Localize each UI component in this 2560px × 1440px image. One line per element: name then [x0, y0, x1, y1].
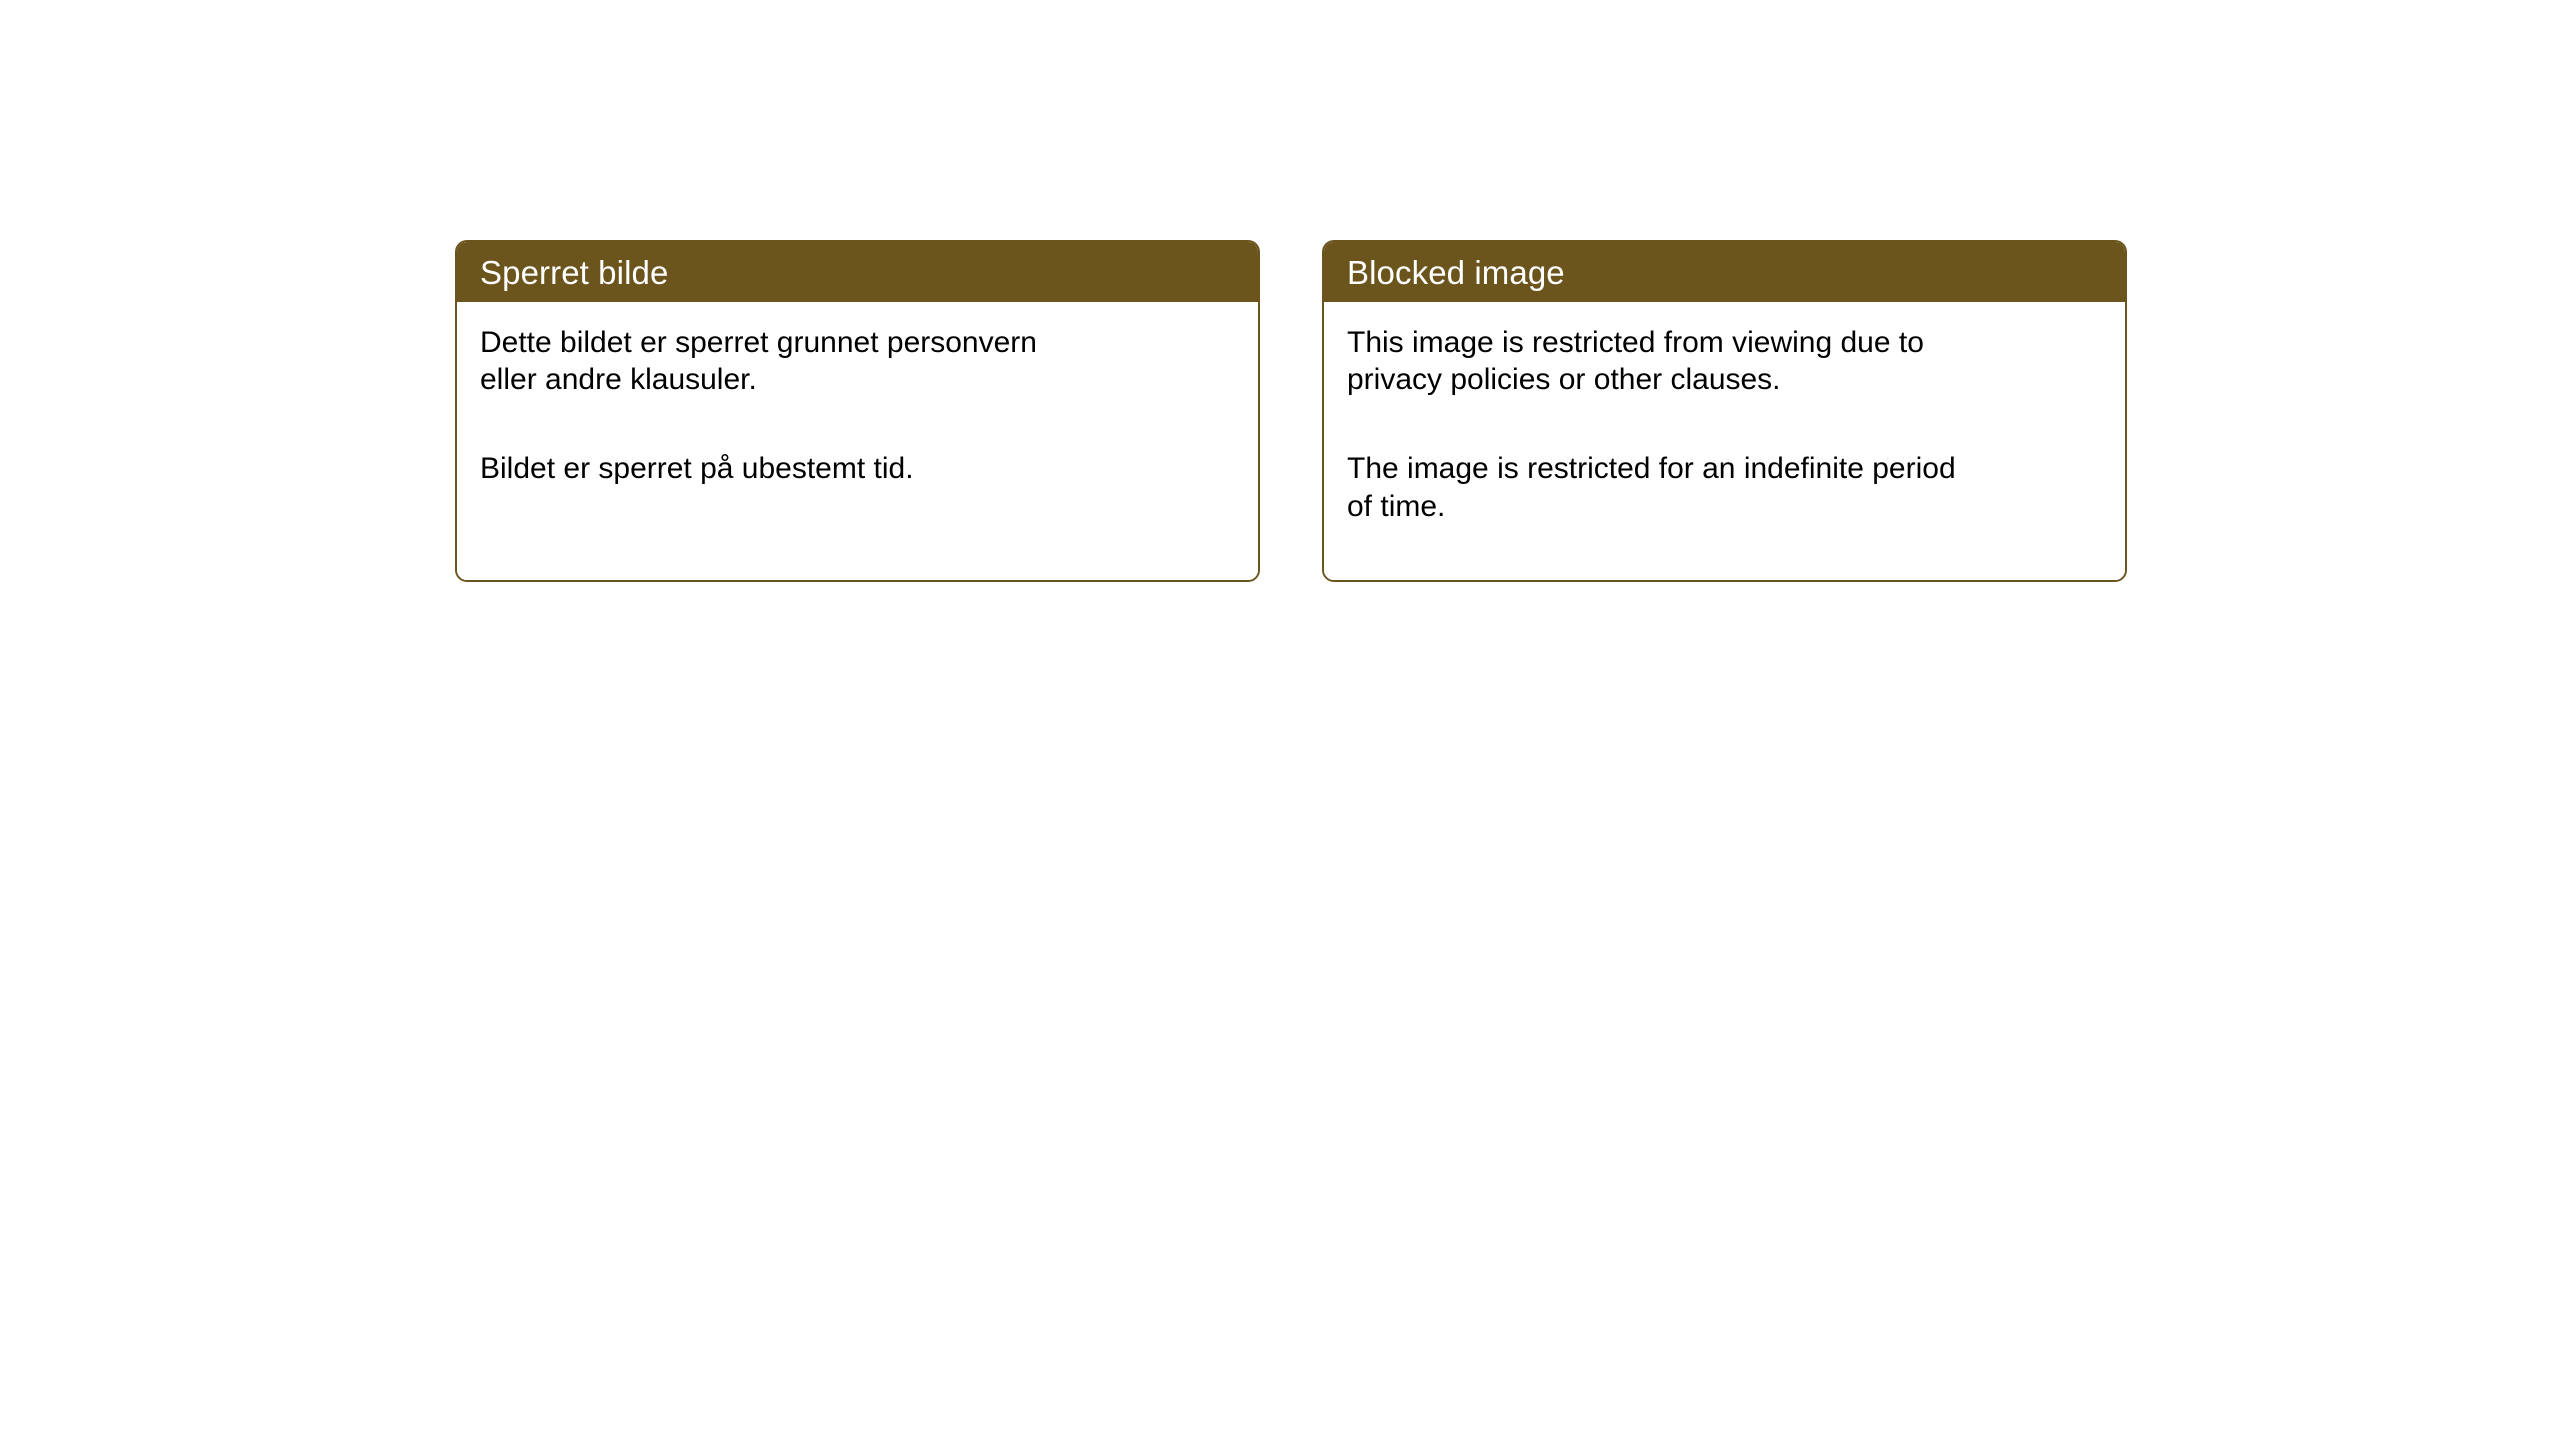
card-paragraph-duration-english: The image is restricted for an indefinit…: [1347, 450, 2101, 524]
card-paragraph-reason-norwegian: Dette bildet er sperret grunnet personve…: [480, 324, 1234, 398]
page-canvas: Sperret bilde Dette bildet er sperret gr…: [0, 0, 2560, 1440]
blocked-image-notice-card-norwegian: Sperret bilde Dette bildet er sperret gr…: [455, 240, 1260, 582]
card-header-norwegian: Sperret bilde: [457, 242, 1258, 302]
card-body-english: This image is restricted from viewing du…: [1324, 302, 2125, 580]
card-header-english: Blocked image: [1324, 242, 2125, 302]
card-paragraph-reason-english: This image is restricted from viewing du…: [1347, 324, 2101, 398]
card-title-english: Blocked image: [1347, 256, 1565, 289]
paragraph-spacer: [1347, 398, 2101, 450]
card-body-norwegian: Dette bildet er sperret grunnet personve…: [457, 302, 1258, 580]
paragraph-spacer: [480, 398, 1234, 450]
blocked-image-notice-card-english: Blocked image This image is restricted f…: [1322, 240, 2127, 582]
card-title-norwegian: Sperret bilde: [480, 256, 668, 289]
card-paragraph-duration-norwegian: Bildet er sperret på ubestemt tid.: [480, 450, 1234, 487]
